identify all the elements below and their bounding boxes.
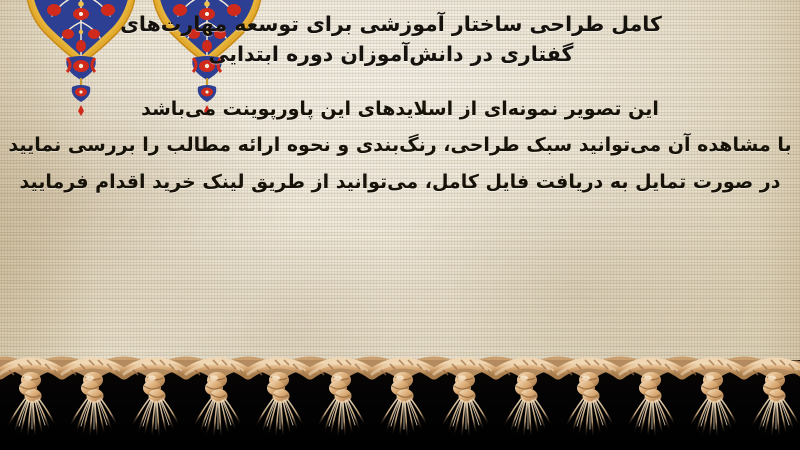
slide-text-block: کامل طراحی ساختار آموزشی برای توسعه مهار… (0, 0, 800, 200)
title-line-2: گفتاری در دانش‌آموزان دوره ابتدایی (0, 39, 782, 69)
page-title: کامل طراحی ساختار آموزشی برای توسعه مهار… (0, 9, 800, 70)
body-line-1: این تصویر نمونه‌ای از اسلایدهای این پاور… (0, 91, 800, 127)
black-footer-band (0, 360, 800, 450)
body-text: این تصویر نمونه‌ای از اسلایدهای این پاور… (0, 91, 800, 200)
body-line-3: در صورت تمایل به دریافت فایل کامل، می‌تو… (0, 164, 800, 200)
slide-canvas: کامل طراحی ساختار آموزشی برای توسعه مهار… (0, 0, 800, 450)
body-line-2: با مشاهده آن می‌توانید سبک طراحی، رنگ‌بن… (0, 127, 800, 163)
title-line-1: کامل طراحی ساختار آموزشی برای توسعه مهار… (0, 9, 782, 39)
